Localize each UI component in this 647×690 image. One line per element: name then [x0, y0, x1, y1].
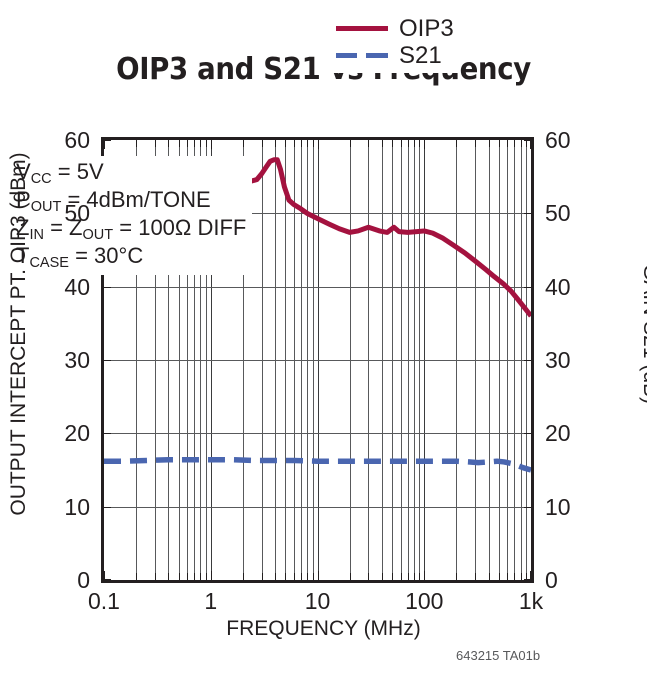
x-axis-title: FREQUENCY (MHz) [0, 617, 647, 641]
axis-tick [104, 579, 111, 580]
axis-tick [318, 140, 319, 149]
axis-tick [382, 573, 383, 580]
axis-tick [419, 573, 420, 580]
axis-tick [521, 140, 522, 147]
axis-tick [524, 433, 531, 434]
legend-item-s21: S21 [336, 42, 454, 69]
y-axis-tick-label-left: 20 [20, 422, 90, 445]
annotation-line-vcc: VCC = 5V [16, 158, 246, 186]
axis-tick [507, 573, 508, 580]
axis-tick [194, 573, 195, 580]
axis-tick [524, 360, 531, 361]
axis-tick [499, 573, 500, 580]
y-axis-tick-label-left: 50 [20, 202, 90, 225]
axis-tick [521, 573, 522, 580]
legend-label-s21: S21 [399, 44, 442, 68]
axis-tick [350, 573, 351, 580]
axis-tick [526, 140, 527, 147]
axis-tick [530, 140, 531, 149]
y-axis-tick-label-right: 0 [545, 569, 615, 592]
axis-tick [285, 573, 286, 580]
axis-tick [401, 573, 402, 580]
axis-tick [530, 571, 531, 580]
axis-tick [524, 287, 531, 288]
annotation-zout-subscript: OUT [83, 227, 114, 243]
annotation-line-tcase: TCASE = 30°C [16, 242, 246, 270]
axis-tick [136, 573, 137, 580]
axis-tick [424, 571, 425, 580]
axis-tick [313, 140, 314, 147]
axis-tick [414, 573, 415, 580]
y-axis-tick-label-right: 60 [545, 129, 615, 152]
axis-tick [104, 507, 111, 508]
annotation-impedance-value: = 100Ω DIFF [113, 215, 246, 240]
axis-tick [155, 573, 156, 580]
y-axis-tick-label-right: 10 [545, 496, 615, 519]
axis-tick [414, 140, 415, 147]
axis-tick [382, 140, 383, 147]
annotation-tcase-subscript: CASE [29, 255, 69, 271]
axis-tick [475, 140, 476, 147]
x-axis-tick-label: 10 [268, 590, 368, 613]
axis-tick [301, 140, 302, 147]
axis-tick [200, 573, 201, 580]
axis-tick [419, 140, 420, 147]
axis-tick [168, 140, 169, 147]
axis-tick [168, 573, 169, 580]
axis-tick [104, 360, 111, 361]
legend: OIP3 S21 [330, 12, 460, 73]
axis-tick [489, 140, 490, 147]
axis-tick [318, 571, 319, 580]
axis-tick [262, 573, 263, 580]
axis-tick [368, 140, 369, 147]
axis-tick [187, 140, 188, 147]
axis-tick [179, 140, 180, 147]
legend-swatch-oip3 [336, 26, 388, 31]
axis-tick [104, 140, 105, 149]
axis-tick [408, 573, 409, 580]
page-title: OIP3 and S21 vs Frequency [26, 52, 621, 87]
axis-tick [526, 573, 527, 580]
axis-tick [104, 433, 111, 434]
axis-tick [104, 140, 111, 141]
axis-tick [456, 140, 457, 147]
legend-label-oip3: OIP3 [399, 17, 454, 41]
y-axis-tick-label-left: 30 [20, 349, 90, 372]
axis-tick [243, 140, 244, 147]
part-number-code: 643215 TA01b [456, 648, 540, 663]
axis-tick [514, 140, 515, 147]
y-axis-tick-label-left: 10 [20, 496, 90, 519]
axis-tick [313, 573, 314, 580]
axis-tick [507, 140, 508, 147]
axis-tick [155, 140, 156, 147]
axis-tick [275, 573, 276, 580]
axis-tick [424, 140, 425, 149]
axis-tick [194, 140, 195, 147]
legend-swatch-s21 [336, 53, 388, 58]
axis-tick [524, 507, 531, 508]
legend-item-oip3: OIP3 [336, 15, 454, 42]
axis-tick [408, 140, 409, 147]
axis-tick [206, 573, 207, 580]
axis-tick [307, 140, 308, 147]
annotation-vcc-value: = 5V [52, 159, 104, 184]
y-axis-tick-label-right: 30 [545, 349, 615, 372]
annotation-vcc-subscript: CC [31, 171, 52, 187]
axis-tick [206, 140, 207, 147]
axis-tick [294, 140, 295, 147]
y-axis-tick-label-left: 60 [20, 129, 90, 152]
y-axis-tick-label-right: 20 [545, 422, 615, 445]
axis-tick [200, 140, 201, 147]
y-axis-tick-label-right: 40 [545, 276, 615, 299]
x-axis-tick-label: 0.1 [54, 590, 154, 613]
axis-tick [294, 573, 295, 580]
x-axis-tick-label: 1k [481, 590, 581, 613]
axis-tick [514, 573, 515, 580]
axis-tick [489, 573, 490, 580]
axis-tick [301, 573, 302, 580]
axis-tick [187, 573, 188, 580]
x-axis-tick-label: 100 [374, 590, 474, 613]
axis-tick [524, 213, 531, 214]
axis-tick [392, 140, 393, 147]
axis-tick [211, 571, 212, 580]
y-axis-tick-label-left: 40 [20, 276, 90, 299]
annotation-zin-subscript: IN [29, 227, 44, 243]
axis-tick [350, 140, 351, 147]
y-axis-tick-label-left: 0 [20, 569, 90, 592]
axis-tick [401, 140, 402, 147]
series-line-s21 [104, 460, 531, 470]
axis-tick [307, 573, 308, 580]
axis-tick [285, 140, 286, 147]
annotation-tcase-value: = 30°C [69, 243, 143, 268]
x-axis-tick-label: 1 [161, 590, 261, 613]
axis-tick [262, 140, 263, 147]
axis-tick [136, 140, 137, 147]
axis-tick [104, 571, 105, 580]
axis-tick [275, 140, 276, 147]
axis-tick [499, 140, 500, 147]
axis-tick [104, 287, 111, 288]
axis-tick [243, 573, 244, 580]
axis-tick [368, 573, 369, 580]
axis-tick [392, 573, 393, 580]
axis-tick [456, 573, 457, 580]
y-axis-tick-label-right: 50 [545, 202, 615, 225]
axis-tick [475, 573, 476, 580]
axis-tick [179, 573, 180, 580]
y-axis-title-right: GAIN S21 (dB) [638, 84, 647, 584]
axis-tick [211, 140, 212, 149]
